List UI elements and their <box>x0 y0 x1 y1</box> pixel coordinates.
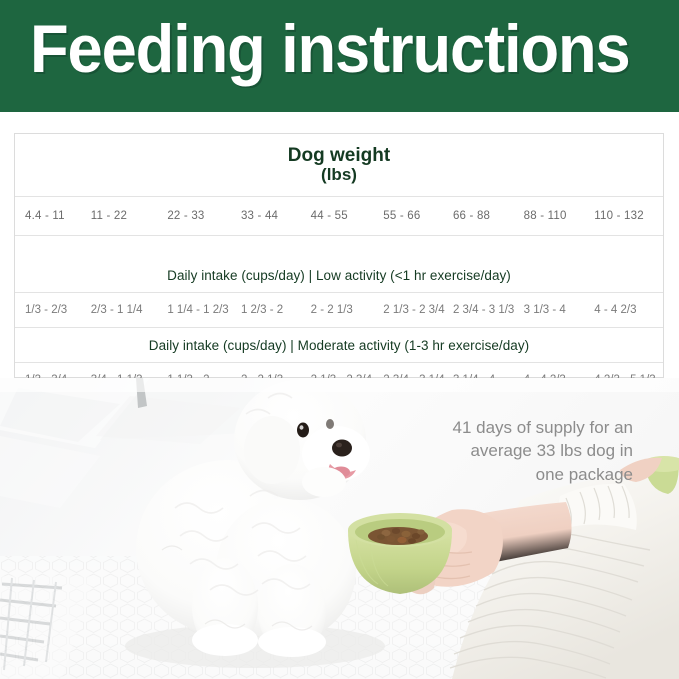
intake-value-cell: 2 - 2 1/3 <box>311 304 384 316</box>
table-header-dog-weight: Dog weight (lbs) <box>15 134 663 196</box>
intake-value-cell: 2 1/3 - 2 3/4 <box>383 304 453 316</box>
weight-range-cell: 44 - 55 <box>311 210 384 222</box>
dog-weight-unit: (lbs) <box>321 166 357 184</box>
intake-values-row-low-activity: 1/3 - 2/3 2/3 - 1 1/4 1 1/4 - 1 2/3 1 2/… <box>15 292 663 327</box>
dog-weight-title: Dog weight <box>288 146 390 166</box>
page-header-banner: Feeding instructions <box>0 0 679 112</box>
weight-range-cell: 22 - 33 <box>167 210 241 222</box>
weight-range-cell: 66 - 88 <box>453 210 524 222</box>
intake-value-cell: 1 2/3 - 2 <box>241 304 311 316</box>
feeding-chart-table: Dog weight (lbs) 4.4 - 11 11 - 22 22 - 3… <box>14 133 664 378</box>
intake-value-cell: 3 1/3 - 4 <box>524 304 595 316</box>
weight-range-cell: 11 - 22 <box>91 210 168 222</box>
weight-range-cell: 88 - 110 <box>524 210 595 222</box>
section-label-low-activity: Daily intake (cups/day) | Low activity (… <box>15 258 663 292</box>
weight-range-cell: 4.4 - 11 <box>15 210 91 222</box>
intake-value-cell: 2/3 - 1 1/4 <box>91 304 168 316</box>
intake-value-cell: 4 - 4 2/3 <box>594 304 663 316</box>
product-lifestyle-photo: 41 days of supply for an average 33 lbs … <box>0 378 679 679</box>
page-title: Feeding instructions <box>30 14 630 85</box>
caption-line-3: one package <box>403 463 633 486</box>
section-label-moderate-activity: Daily intake (cups/day) | Moderate activ… <box>15 327 663 362</box>
intake-value-cell: 2 3/4 - 3 1/3 <box>453 304 524 316</box>
weight-range-cell: 33 - 44 <box>241 210 311 222</box>
weight-range-header-row: 4.4 - 11 11 - 22 22 - 33 33 - 44 44 - 55… <box>15 196 663 235</box>
weight-range-cell: 110 - 132 <box>594 210 663 222</box>
intake-value-cell: 1 1/4 - 1 2/3 <box>167 304 241 316</box>
caption-line-2: average 33 lbs dog in <box>403 439 633 462</box>
kibble <box>368 527 428 545</box>
intake-value-cell: 1/3 - 2/3 <box>15 304 91 316</box>
caption-line-1: 41 days of supply for an <box>403 416 633 439</box>
supply-duration-caption: 41 days of supply for an average 33 lbs … <box>403 416 633 486</box>
weight-range-cell: 55 - 66 <box>383 210 453 222</box>
table-spacer <box>15 235 663 258</box>
